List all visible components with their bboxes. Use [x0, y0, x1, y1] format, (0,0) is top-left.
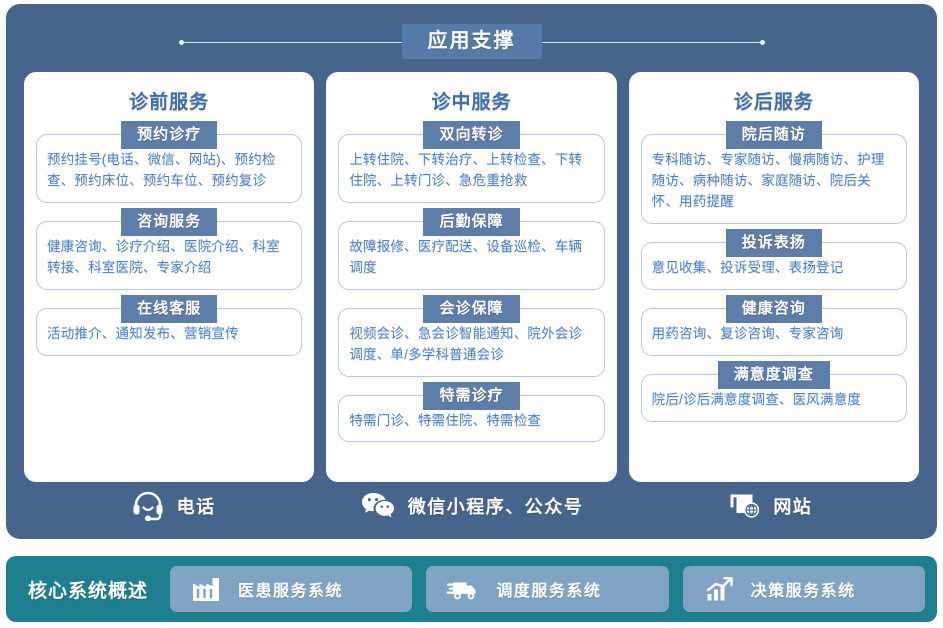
sub-card-body: 院后/诊后满意度调查、医风满意度: [652, 390, 896, 411]
factory-icon: [190, 575, 222, 603]
sub-card-head: 投诉表扬: [726, 229, 822, 257]
sub-card[interactable]: 双向转诊 上转住院、下转治疗、上转检查、下转住院、上转门诊、急危重抢救: [338, 134, 604, 203]
truck-icon: [446, 575, 480, 603]
sub-card-body: 健康咨询、诊疗介绍、医院介绍、科室转接、科室医院、专家介绍: [47, 237, 291, 279]
core-item-label: 调度服务系统: [496, 577, 601, 601]
channel-phone[interactable]: 电话: [24, 483, 322, 529]
sub-card-head: 健康咨询: [726, 295, 822, 323]
sub-card-body: 上转住院、下转治疗、上转检查、下转住院、上转门诊、急危重抢救: [349, 150, 593, 192]
sub-card-body: 故障报修、医疗配送、设备巡检、车辆调度: [349, 237, 593, 279]
connector-line-left: [184, 42, 404, 43]
sub-card[interactable]: 满意度调查 院后/诊后满意度调查、医风满意度: [641, 374, 907, 422]
sub-card-head: 后勤保障: [423, 208, 519, 236]
core-systems-bar: 核心系统概述 医患服务系统: [6, 556, 937, 622]
column-title: 诊后服务: [641, 87, 907, 114]
sub-card[interactable]: 院后随访 专科随访、专家随访、慢病随访、护理随访、病种随访、家庭随访、院后关怀、…: [641, 134, 907, 224]
sub-card-body: 意见收集、投诉受理、表扬登记: [652, 258, 896, 279]
sub-card[interactable]: 在线客服 活动推介、通知发布、营销宣传: [36, 308, 302, 356]
headset-icon: [131, 491, 165, 521]
sub-card-body: 视频会诊、急会诊智能通知、院外会诊调度、单/多学科普通会诊: [349, 324, 593, 366]
wechat-icon: [360, 491, 396, 521]
column-title: 诊前服务: [36, 87, 302, 114]
connector-dot-right: [760, 40, 765, 45]
sub-card[interactable]: 预约诊疗 预约挂号(电话、微信、网站)、预约检查、预约床位、预约车位、预约复诊: [36, 134, 302, 203]
sub-card-body: 活动推介、通知发布、营销宣传: [47, 324, 291, 345]
panel-header: 应用支撑: [6, 20, 937, 62]
sub-card-body: 用药咨询、复诊咨询、专家咨询: [652, 324, 896, 345]
sub-card-head: 预约诊疗: [121, 121, 217, 149]
sub-card[interactable]: 后勤保障 故障报修、医疗配送、设备巡检、车辆调度: [338, 221, 604, 290]
service-column-during-visit: 诊中服务 双向转诊 上转住院、下转治疗、上转检查、下转住院、上转门诊、急危重抢救…: [326, 72, 616, 482]
sub-card[interactable]: 投诉表扬 意见收集、投诉受理、表扬登记: [641, 242, 907, 290]
sub-card[interactable]: 健康咨询 用药咨询、复诊咨询、专家咨询: [641, 308, 907, 356]
sub-card-body: 专科随访、专家随访、慢病随访、护理随访、病种随访、家庭随访、院后关怀、用药提醒: [652, 150, 896, 213]
sub-card-head: 院后随访: [726, 121, 822, 149]
sub-card-head: 会诊保障: [423, 295, 519, 323]
connector-dot-left: [179, 40, 184, 45]
chart-growth-icon: [703, 575, 735, 603]
channel-label: 电话: [177, 493, 216, 519]
service-column-pre-visit: 诊前服务 预约诊疗 预约挂号(电话、微信、网站)、预约检查、预约床位、预约车位、…: [24, 72, 314, 482]
sub-card-head: 特需诊疗: [423, 382, 519, 410]
sub-card[interactable]: 特需诊疗 特需门诊、特需住院、特需检查: [338, 395, 604, 443]
sub-card-head: 在线客服: [121, 295, 217, 323]
service-column-post-visit: 诊后服务 院后随访 专科随访、专家随访、慢病随访、护理随访、病种随访、家庭随访、…: [629, 72, 919, 482]
channel-row: 电话 微信小程序、公众号: [24, 483, 919, 529]
core-item-label: 医患服务系统: [238, 577, 343, 601]
channel-label: 微信小程序、公众号: [408, 493, 584, 519]
core-item-dispatch-service[interactable]: 调度服务系统: [426, 566, 668, 612]
connector-line-right: [540, 42, 760, 43]
sub-card-head: 咨询服务: [121, 208, 217, 236]
sub-card-head: 双向转诊: [423, 121, 519, 149]
core-item-patient-service[interactable]: 医患服务系统: [170, 566, 412, 612]
core-item-label: 决策服务系统: [751, 577, 856, 601]
channel-label: 网站: [773, 493, 812, 519]
core-item-decision-service[interactable]: 决策服务系统: [683, 566, 925, 612]
sub-card-head: 满意度调查: [718, 361, 830, 389]
sub-card-body: 特需门诊、特需住院、特需检查: [349, 411, 593, 432]
panel-title-badge: 应用支撑: [402, 24, 542, 59]
sub-card-body: 预约挂号(电话、微信、网站)、预约检查、预约床位、预约车位、预约复诊: [47, 150, 291, 192]
service-columns: 诊前服务 预约诊疗 预约挂号(电话、微信、网站)、预约检查、预约床位、预约车位、…: [24, 72, 919, 482]
channel-website[interactable]: 网站: [621, 483, 919, 529]
core-systems-title: 核心系统概述: [18, 576, 156, 603]
application-support-panel: 应用支撑 诊前服务 预约诊疗 预约挂号(电话、微信、网站)、预约检查、预约床位、…: [6, 4, 937, 539]
sub-card[interactable]: 咨询服务 健康咨询、诊疗介绍、医院介绍、科室转接、科室医院、专家介绍: [36, 221, 302, 290]
channel-wechat[interactable]: 微信小程序、公众号: [322, 483, 620, 529]
column-title: 诊中服务: [338, 87, 604, 114]
sub-card[interactable]: 会诊保障 视频会诊、急会诊智能通知、院外会诊调度、单/多学科普通会诊: [338, 308, 604, 377]
infographic-root: 应用支撑 诊前服务 预约诊疗 预约挂号(电话、微信、网站)、预约检查、预约床位、…: [0, 0, 943, 628]
website-icon: [727, 491, 761, 521]
